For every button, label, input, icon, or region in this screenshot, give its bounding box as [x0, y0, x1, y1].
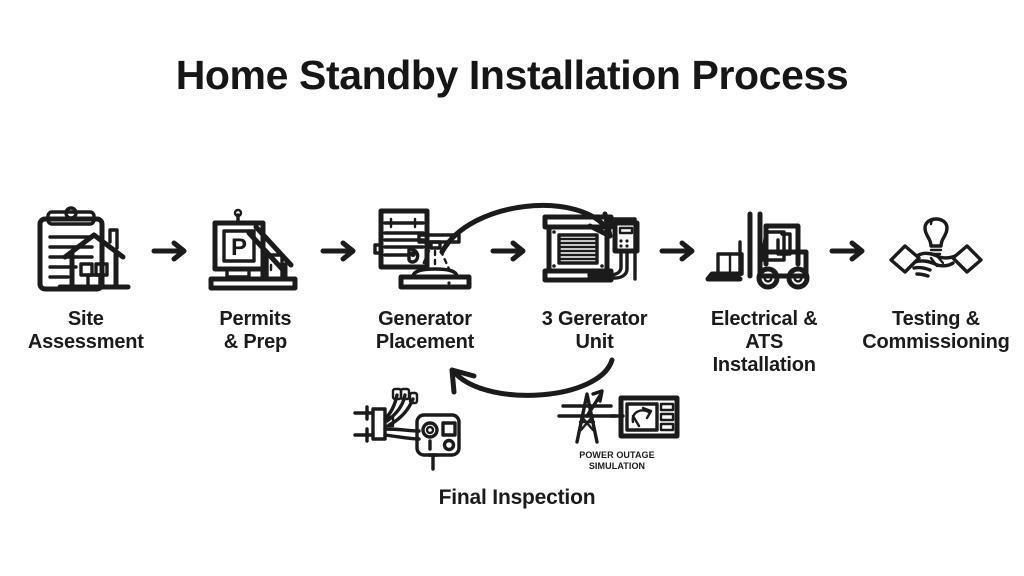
arrow-2	[319, 206, 361, 296]
page-title: Home Standby Installation Process	[0, 52, 1024, 99]
permit-sign-house-icon: P	[200, 206, 310, 296]
step-label: Permits & Prep	[219, 308, 291, 354]
final-inspection-label: Final Inspection	[352, 486, 682, 510]
arrow-1	[150, 206, 192, 296]
final-inspection-icons: POWER OUTAGE SIMULATION	[352, 386, 682, 474]
step-label: 3 Gererator Unit	[542, 308, 648, 354]
power-outage-simulation-icon: POWER OUTAGE SIMULATION	[552, 386, 682, 474]
wiring-harness-controller-icon	[352, 386, 472, 474]
step-label: Testing & Commissioning	[862, 308, 1009, 354]
power-outage-simulation-caption: POWER OUTAGE SIMULATION	[579, 450, 655, 471]
step-site-assessment[interactable]: Site Assessment	[22, 206, 150, 354]
arrow-4	[658, 206, 700, 296]
handshake-lightbulb-icon	[881, 206, 991, 296]
clipboard-house-icon	[31, 206, 141, 296]
diagram-canvas: Home Standby Installation Process	[0, 0, 1024, 576]
forklift-icon	[709, 206, 819, 296]
step-electrical-ats-installation[interactable]: Electrical & ATS Installation	[700, 206, 828, 377]
step-testing-commissioning[interactable]: Testing & Commissioning	[870, 206, 1002, 354]
step-label: Electrical & ATS Installation	[700, 308, 828, 377]
svg-text:P: P	[231, 234, 247, 261]
step-label: Site Assessment	[28, 308, 144, 354]
arrow-5	[828, 206, 870, 296]
step-permits-prep[interactable]: P Permits & Prep	[192, 206, 320, 354]
loop-arrow-top	[440, 194, 630, 256]
final-inspection-group[interactable]: POWER OUTAGE SIMULATION Final Inspection	[352, 386, 682, 521]
step-label: Generator Placement	[376, 308, 474, 354]
